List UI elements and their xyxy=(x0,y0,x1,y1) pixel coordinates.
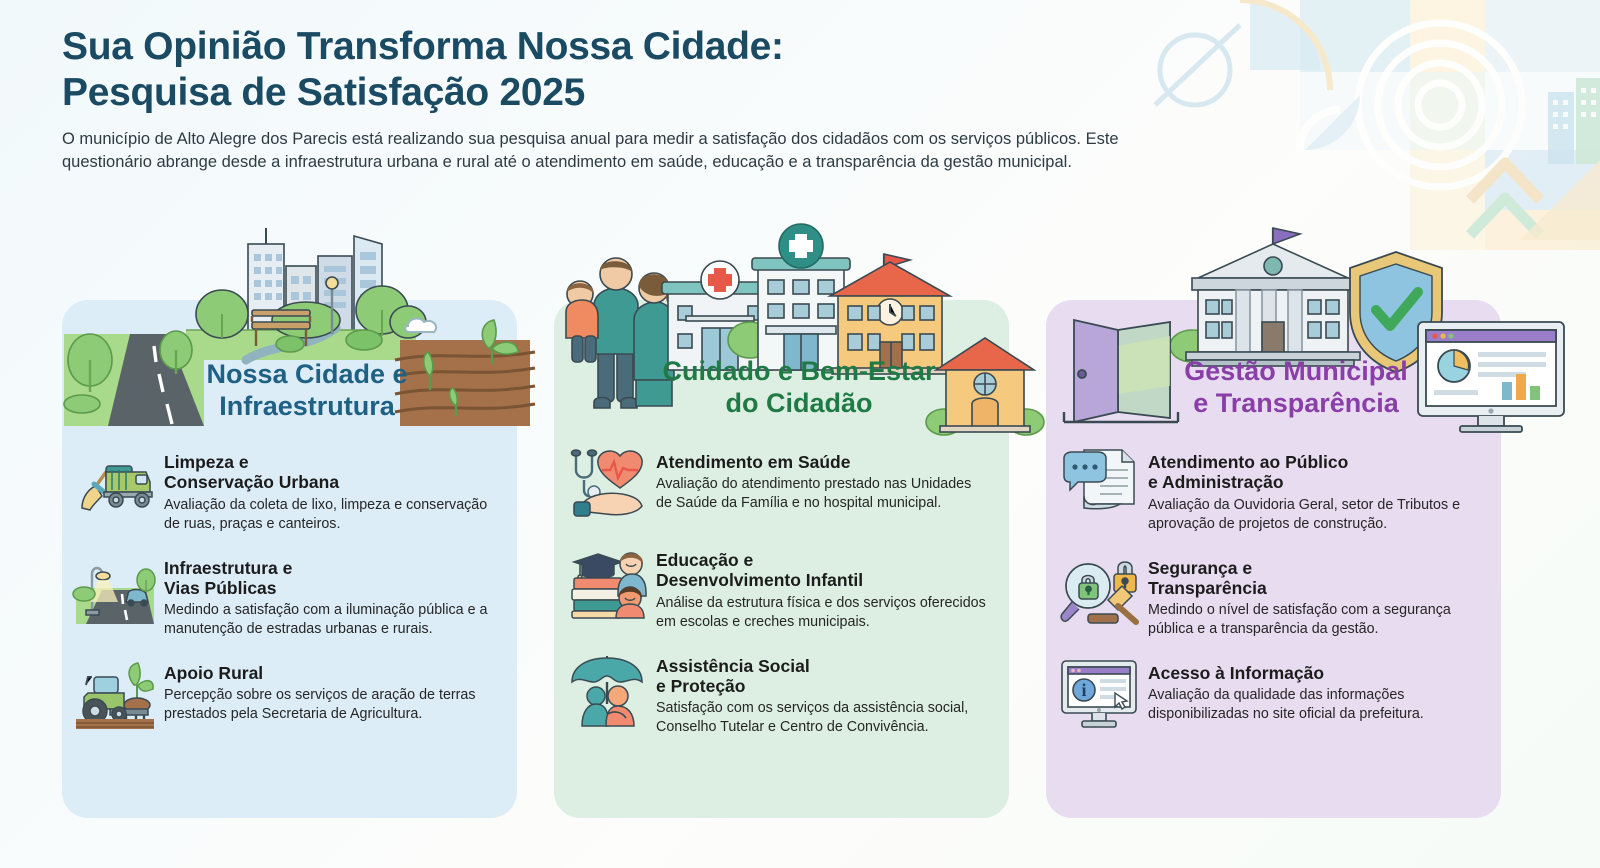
list-item-text: Acesso à Informação Avaliação da qualida… xyxy=(1148,659,1483,737)
page-title-line1: Sua Opinião Transforma Nossa Cidade: xyxy=(62,24,1122,70)
list-item: i xyxy=(1046,659,1501,737)
category-panels: Nossa Cidade e Infraestrutura xyxy=(0,300,1600,830)
road-trees-icon xyxy=(64,306,204,426)
panel1-items: Limpeza e Conservação Urbana Avaliação d… xyxy=(62,448,517,757)
heading-line2: e Administração xyxy=(1148,472,1483,492)
list-item-heading: Segurança e Transparência xyxy=(1148,558,1483,599)
list-item-desc: Medindo a satisfação com a iluminação pú… xyxy=(164,601,499,639)
tractor-seedling-icon xyxy=(76,659,154,737)
heading-line1: Segurança e xyxy=(1148,558,1483,578)
panel3-title-line1: Gestão Municipal xyxy=(1166,355,1426,387)
city-hall-flag-icon xyxy=(1178,222,1368,374)
list-item-heading: Atendimento ao Público e Administração xyxy=(1148,452,1483,493)
stethoscope-heart-hand-icon xyxy=(568,448,646,526)
list-item-heading: Infraestrutura e Vias Públicas xyxy=(164,558,499,599)
heading-line2: Transparência xyxy=(1148,578,1483,598)
heading-line1: Atendimento ao Público xyxy=(1148,452,1483,472)
open-door-icon xyxy=(1060,316,1178,428)
list-item-desc: Análise da estrutura física e dos serviç… xyxy=(656,594,991,632)
document-chat-icon xyxy=(1060,448,1138,526)
heading-line2: Vias Públicas xyxy=(164,578,499,598)
list-item-desc: Avaliação do atendimento prestado nas Un… xyxy=(656,475,991,513)
list-item-text: Atendimento em Saúde Avaliação do atendi… xyxy=(656,448,991,526)
list-item-desc: Avaliação da qualidade das informações d… xyxy=(1148,686,1483,724)
page-title: Sua Opinião Transforma Nossa Cidade: Pes… xyxy=(62,24,1122,116)
list-item-desc: Medindo o nível de satisfação com a segu… xyxy=(1148,601,1483,639)
monitor-info-icon: i xyxy=(1060,659,1138,737)
list-item-text: Limpeza e Conservação Urbana Avaliação d… xyxy=(164,448,499,534)
broom-garbage-truck-icon xyxy=(76,448,154,526)
list-item-text: Educação e Desenvolvimento Infantil Anál… xyxy=(656,546,991,632)
list-item-desc: Percepção sobre os serviços de aração de… xyxy=(164,686,499,724)
list-item-text: Apoio Rural Percepção sobre os serviços … xyxy=(164,659,499,737)
list-item-text: Infraestrutura e Vias Públicas Medindo a… xyxy=(164,554,499,640)
streetlight-road-car-icon xyxy=(76,554,154,632)
list-item: Assistência Social e Proteção Satisfação… xyxy=(554,652,1009,738)
heading-line1: Assistência Social xyxy=(656,656,991,676)
panel3-items: Atendimento ao Público e Administração A… xyxy=(1046,448,1501,757)
city-skyline-park-icon xyxy=(186,222,416,367)
heading-line1: Atendimento em Saúde xyxy=(656,452,991,472)
panel2-title-line2: do Cidadão xyxy=(649,387,949,419)
list-item-heading: Apoio Rural xyxy=(164,663,499,683)
list-item-desc: Avaliação da coleta de lixo, limpeza e c… xyxy=(164,496,499,534)
magnifier-lock-gavel-icon xyxy=(1060,554,1138,632)
heading-line1: Educação e xyxy=(656,550,991,570)
panel3-title-line2: e Transparência xyxy=(1166,387,1426,419)
panel-infrastructure-title: Nossa Cidade e Infraestrutura xyxy=(192,358,422,423)
list-item: Limpeza e Conservação Urbana Avaliação d… xyxy=(62,448,517,534)
panel2-title-line1: Cuidado e Bem-Estar xyxy=(649,355,949,387)
list-item: Atendimento em Saúde Avaliação do atendi… xyxy=(554,448,1009,526)
heading-line1: Apoio Rural xyxy=(164,663,499,683)
list-item: Infraestrutura e Vias Públicas Medindo a… xyxy=(62,554,517,640)
page-title-line2: Pesquisa de Satisfação 2025 xyxy=(62,70,1122,116)
heading-line1: Acesso à Informação xyxy=(1148,663,1483,683)
panel-management-title: Gestão Municipal e Transparência xyxy=(1166,355,1426,420)
list-item-desc: Avaliação da Ouvidoria Geral, setor de T… xyxy=(1148,496,1483,534)
umbrella-protection-icon xyxy=(568,652,646,730)
heading-line2: Conservação Urbana xyxy=(164,472,499,492)
heading-line1: Infraestrutura e xyxy=(164,558,499,578)
panel1-title-line2: Infraestrutura xyxy=(192,390,422,422)
list-item-heading: Atendimento em Saúde xyxy=(656,452,991,472)
list-item-text: Segurança e Transparência Medindo o níve… xyxy=(1148,554,1483,640)
infographic-page: Sua Opinião Transforma Nossa Cidade: Pes… xyxy=(0,0,1600,868)
list-item-text: Atendimento ao Público e Administração A… xyxy=(1148,448,1483,534)
intro-paragraph: O município de Alto Alegre dos Parecis e… xyxy=(62,128,1122,175)
list-item-text: Assistência Social e Proteção Satisfação… xyxy=(656,652,991,738)
graduation-books-children-icon xyxy=(568,546,646,624)
list-item-heading: Limpeza e Conservação Urbana xyxy=(164,452,499,493)
svg-text:i: i xyxy=(1081,680,1086,700)
panel1-title-line1: Nossa Cidade e xyxy=(192,358,422,390)
list-item-heading: Educação e Desenvolvimento Infantil xyxy=(656,550,991,591)
heading-line1: Limpeza e xyxy=(164,452,499,472)
list-item: Segurança e Transparência Medindo o níve… xyxy=(1046,554,1501,640)
panel2-items: Atendimento em Saúde Avaliação do atendi… xyxy=(554,448,1009,757)
heading-line2: e Proteção xyxy=(656,676,991,696)
list-item: Apoio Rural Percepção sobre os serviços … xyxy=(62,659,517,737)
list-item-desc: Satisfação com os serviços da assistênci… xyxy=(656,699,991,737)
list-item: Educação e Desenvolvimento Infantil Anál… xyxy=(554,546,1009,632)
list-item-heading: Acesso à Informação xyxy=(1148,663,1483,683)
decorative-corner-pattern xyxy=(1100,0,1600,250)
page-header: Sua Opinião Transforma Nossa Cidade: Pes… xyxy=(62,24,1122,175)
list-item: Atendimento ao Público e Administração A… xyxy=(1046,448,1501,534)
panel-citizen-wellbeing-title: Cuidado e Bem-Estar do Cidadão xyxy=(649,355,949,420)
list-item-heading: Assistência Social e Proteção xyxy=(656,656,991,697)
monitor-dashboard-icon xyxy=(1416,320,1566,434)
heading-line2: Desenvolvimento Infantil xyxy=(656,570,991,590)
